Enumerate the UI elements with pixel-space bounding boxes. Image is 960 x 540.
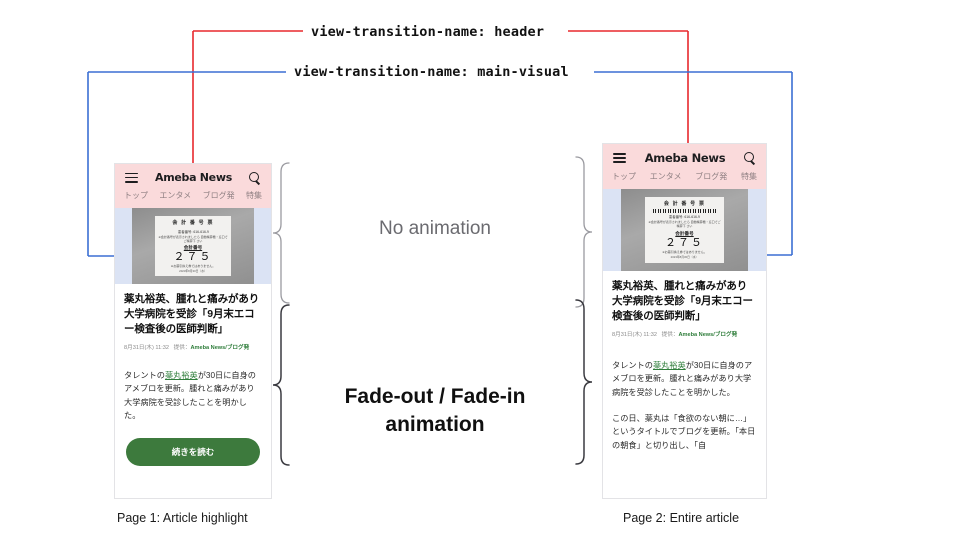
site-nav: トップ エンタメ ブログ発 特集 [603, 168, 766, 189]
byline-prefix: 提供： [174, 345, 191, 351]
ticket-instruction: ※会計番号が表示されましたら 自動精算機・窓口でご精算下 さい [157, 236, 228, 244]
read-more-button[interactable]: 続きを読む [126, 438, 260, 466]
nav-item-top[interactable]: トップ [612, 171, 636, 182]
byline-source[interactable]: Ameba News/ブログ発 [190, 345, 249, 351]
nav-item-top[interactable]: トップ [124, 190, 148, 201]
site-nav: トップ エンタメ ブログ発 特集 [115, 187, 271, 208]
article-paragraph-2: この日、薬丸は「食欲のない朝に…」というタイトルでブログを更新。「本日の朝食」と… [612, 412, 757, 452]
site-brand: Ameba News [645, 151, 726, 165]
receipt-ticket: 会 計 番 号 票 患者番号: 616-616-9 ※会計番号が表示されましたら… [155, 216, 230, 277]
diagram-canvas: view-transition-name: header view-transi… [0, 0, 960, 540]
nav-item-entame[interactable]: エンタメ [159, 190, 191, 201]
search-icon[interactable] [744, 152, 756, 164]
byline-source[interactable]: Ameba News/ブログ発 [678, 332, 737, 338]
ticket-title: 会 計 番 号 票 [172, 219, 213, 226]
byline-date: 8月31日(木) 11:32 [124, 345, 169, 351]
article-photo: 会 計 番 号 票 患者番号: 616-616-9 ※会計番号が表示されましたら… [621, 189, 748, 271]
ticket-patient: 患者番号: 616-616-9 [669, 215, 700, 220]
ticket-number: ２７５ [173, 252, 212, 263]
hamburger-icon[interactable] [613, 153, 626, 163]
article-lede-link[interactable]: 薬丸裕英 [653, 361, 686, 370]
receipt-ticket: 会 計 番 号 票 患者番号: 616-616-9 ※会計番号が表示されましたら… [645, 197, 724, 263]
article-lede: タレントの薬丸裕英が30日に自身のアメブロを更新。腫れと痛みがあり大学病院を受診… [124, 369, 262, 422]
byline-prefix: 提供： [662, 332, 679, 338]
article-byline: 8月31日(木) 11:32 提供：Ameba News/ブログ発 [124, 344, 262, 352]
site-brand: Ameba News [155, 171, 232, 184]
annotation-header-label: view-transition-name: header [311, 24, 544, 40]
site-header: Ameba News トップ エンタメ ブログ発 特集 [115, 164, 271, 208]
article-byline: 8月31日(木) 11:32 提供：Ameba News/ブログ発 [612, 331, 757, 339]
article-body: 薬丸裕英、腫れと痛みがあり大学病院を受診「9月末エコー検査後の医師判断」 8月3… [603, 271, 766, 452]
nav-item-blog[interactable]: ブログ発 [203, 190, 235, 201]
article-photo: 会 計 番 号 票 患者番号: 616-616-9 ※会計番号が表示されましたら… [132, 208, 254, 284]
article-title: 薬丸裕英、腫れと痛みがあり大学病院を受診「9月末エコー検査後の医師判断」 [124, 292, 262, 337]
caption-page-1: Page 1: Article highlight [117, 511, 248, 525]
caption-page-2: Page 2: Entire article [623, 511, 739, 525]
ticket-instruction: ※会計番号が表示されましたら 自動精算機・窓口でご精算下 さい [647, 221, 722, 229]
main-visual: 会 計 番 号 票 患者番号: 616-616-9 ※会計番号が表示されましたら… [603, 189, 766, 271]
search-icon[interactable] [249, 172, 261, 184]
site-topbar: Ameba News [603, 144, 766, 168]
nav-item-feature[interactable]: 特集 [741, 171, 757, 182]
brace-label-no-animation: No animation [300, 218, 570, 240]
ticket-label: 会計番号 [675, 231, 693, 237]
phone-mockup-page-1: Ameba News トップ エンタメ ブログ発 特集 会 計 番 号 票 患者… [114, 163, 272, 499]
ticket-date: 2023年8月30日（水） [179, 269, 207, 273]
phone-mockup-page-2: Ameba News トップ エンタメ ブログ発 特集 会 計 番 号 票 患者… [602, 143, 767, 499]
brace-label-fade-animation: Fade-out / Fade-in animation [300, 383, 570, 440]
site-topbar: Ameba News [115, 164, 271, 187]
ticket-note: ※お薬引換え券ではありません。 [662, 250, 706, 254]
article-title: 薬丸裕英、腫れと痛みがあり大学病院を受診「9月末エコー検査後の医師判断」 [612, 279, 757, 324]
article-lede: タレントの薬丸裕英が30日に自身のアメブロを更新。腫れと痛みがあり大学病院を受診… [612, 359, 757, 399]
annotation-main-visual-label: view-transition-name: main-visual [294, 64, 569, 80]
ticket-number: ２７５ [665, 238, 704, 249]
article-lede-link[interactable]: 薬丸裕英 [165, 371, 198, 380]
nav-item-blog[interactable]: ブログ発 [695, 171, 727, 182]
ticket-date: 2023年8月30日（水） [671, 255, 699, 259]
main-visual: 会 計 番 号 票 患者番号: 616-616-9 ※会計番号が表示されましたら… [115, 208, 271, 284]
nav-item-feature[interactable]: 特集 [246, 190, 262, 201]
ticket-title: 会 計 番 号 票 [664, 200, 705, 207]
hamburger-icon[interactable] [125, 173, 138, 183]
site-header: Ameba News トップ エンタメ ブログ発 特集 [603, 144, 766, 189]
article-body: 薬丸裕英、腫れと痛みがあり大学病院を受診「9月末エコー検査後の医師判断」 8月3… [115, 284, 271, 466]
nav-item-entame[interactable]: エンタメ [650, 171, 682, 182]
barcode-icon [653, 209, 716, 213]
ticket-patient: 患者番号: 616-616-9 [177, 230, 208, 235]
ticket-note: ※お薬引換え券ではありません。 [171, 264, 215, 268]
byline-date: 8月31日(木) 11:32 [612, 332, 657, 338]
